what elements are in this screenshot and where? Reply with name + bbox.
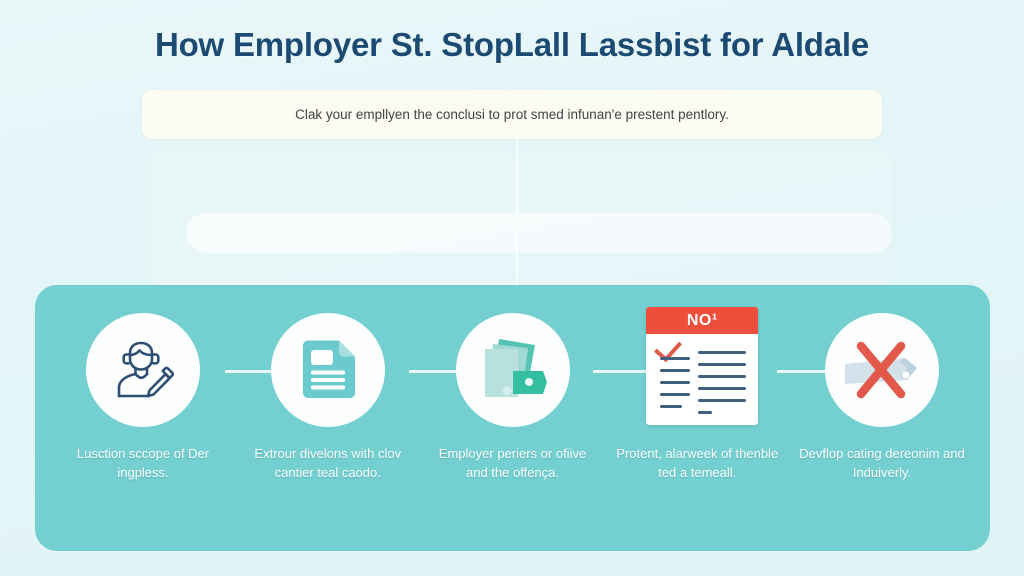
doc-line bbox=[698, 411, 712, 414]
step-caption-4: Protent, alarweek of thenble ted a temea… bbox=[611, 445, 783, 483]
step-caption-2: Extrour divelons with clov cantier teal … bbox=[242, 445, 414, 483]
doc-line bbox=[660, 369, 690, 372]
document-page-icon bbox=[291, 333, 365, 407]
doc-line bbox=[698, 351, 746, 354]
step-item-1[interactable]: Lusction sccope of Der ingpless. bbox=[53, 285, 233, 483]
step-caption-5: Devflop cating dereonim and Induiverly. bbox=[796, 445, 968, 483]
person-with-pencil-icon bbox=[104, 331, 182, 409]
doc-line bbox=[698, 387, 746, 390]
page-title: How Employer St. StopLall Lassbist for A… bbox=[0, 26, 1024, 64]
step-icon-circle-4: NO¹ bbox=[640, 313, 754, 427]
step-caption-1: Lusction sccope of Der ingpless. bbox=[57, 445, 229, 483]
doc-line bbox=[660, 357, 690, 360]
red-x-cancel-icon bbox=[839, 334, 925, 406]
step-icon-circle-3 bbox=[456, 313, 570, 427]
doc-line bbox=[660, 381, 690, 384]
step-item-5[interactable]: Devflop cating dereonim and Induiverly. bbox=[792, 285, 972, 483]
stacked-papers-icon bbox=[473, 331, 553, 409]
doc-line bbox=[698, 363, 746, 366]
horizontal-connector-bar bbox=[186, 213, 892, 253]
step-icon-circle-1 bbox=[86, 313, 200, 427]
step-icon-circle-2 bbox=[271, 313, 385, 427]
step-item-2[interactable]: Extrour divelons with clov cantier teal … bbox=[238, 285, 418, 483]
doc-line bbox=[660, 405, 682, 408]
steps-row: Lusction sccope of Der ingpless. bbox=[35, 285, 990, 551]
doc-line bbox=[660, 393, 690, 396]
step-item-3[interactable]: Employer periers or ofiive and the offen… bbox=[423, 285, 603, 483]
checklist-no-document-icon: NO¹ bbox=[640, 307, 754, 429]
subtitle-text: Clak your empllyen the conclusi to prot … bbox=[279, 107, 745, 122]
step-item-4[interactable]: NO¹ Protent, ala bbox=[607, 285, 787, 483]
steps-panel: Lusction sccope of Der ingpless. bbox=[35, 285, 990, 551]
infographic-canvas: How Employer St. StopLall Lassbist for A… bbox=[0, 0, 1024, 576]
step-icon-circle-5 bbox=[825, 313, 939, 427]
doc-line bbox=[698, 399, 746, 402]
subtitle-banner: Clak your empllyen the conclusi to prot … bbox=[142, 90, 882, 139]
doc-line bbox=[698, 375, 746, 378]
step-caption-3: Employer periers or ofiive and the offen… bbox=[427, 445, 599, 483]
status-badge: NO¹ bbox=[646, 307, 758, 334]
